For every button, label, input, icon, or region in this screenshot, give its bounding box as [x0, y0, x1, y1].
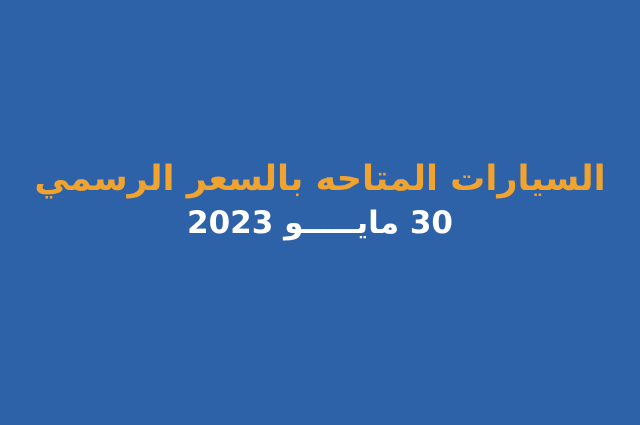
banner-canvas: السيارات المتاحه بالسعر الرسمي 30 مايـــ… [0, 0, 640, 425]
banner-date-subheadline: 30 مايـــــو 2023 [187, 204, 453, 243]
banner-text-block: السيارات المتاحه بالسعر الرسمي 30 مايـــ… [0, 158, 640, 243]
banner-headline: السيارات المتاحه بالسعر الرسمي [34, 158, 605, 202]
